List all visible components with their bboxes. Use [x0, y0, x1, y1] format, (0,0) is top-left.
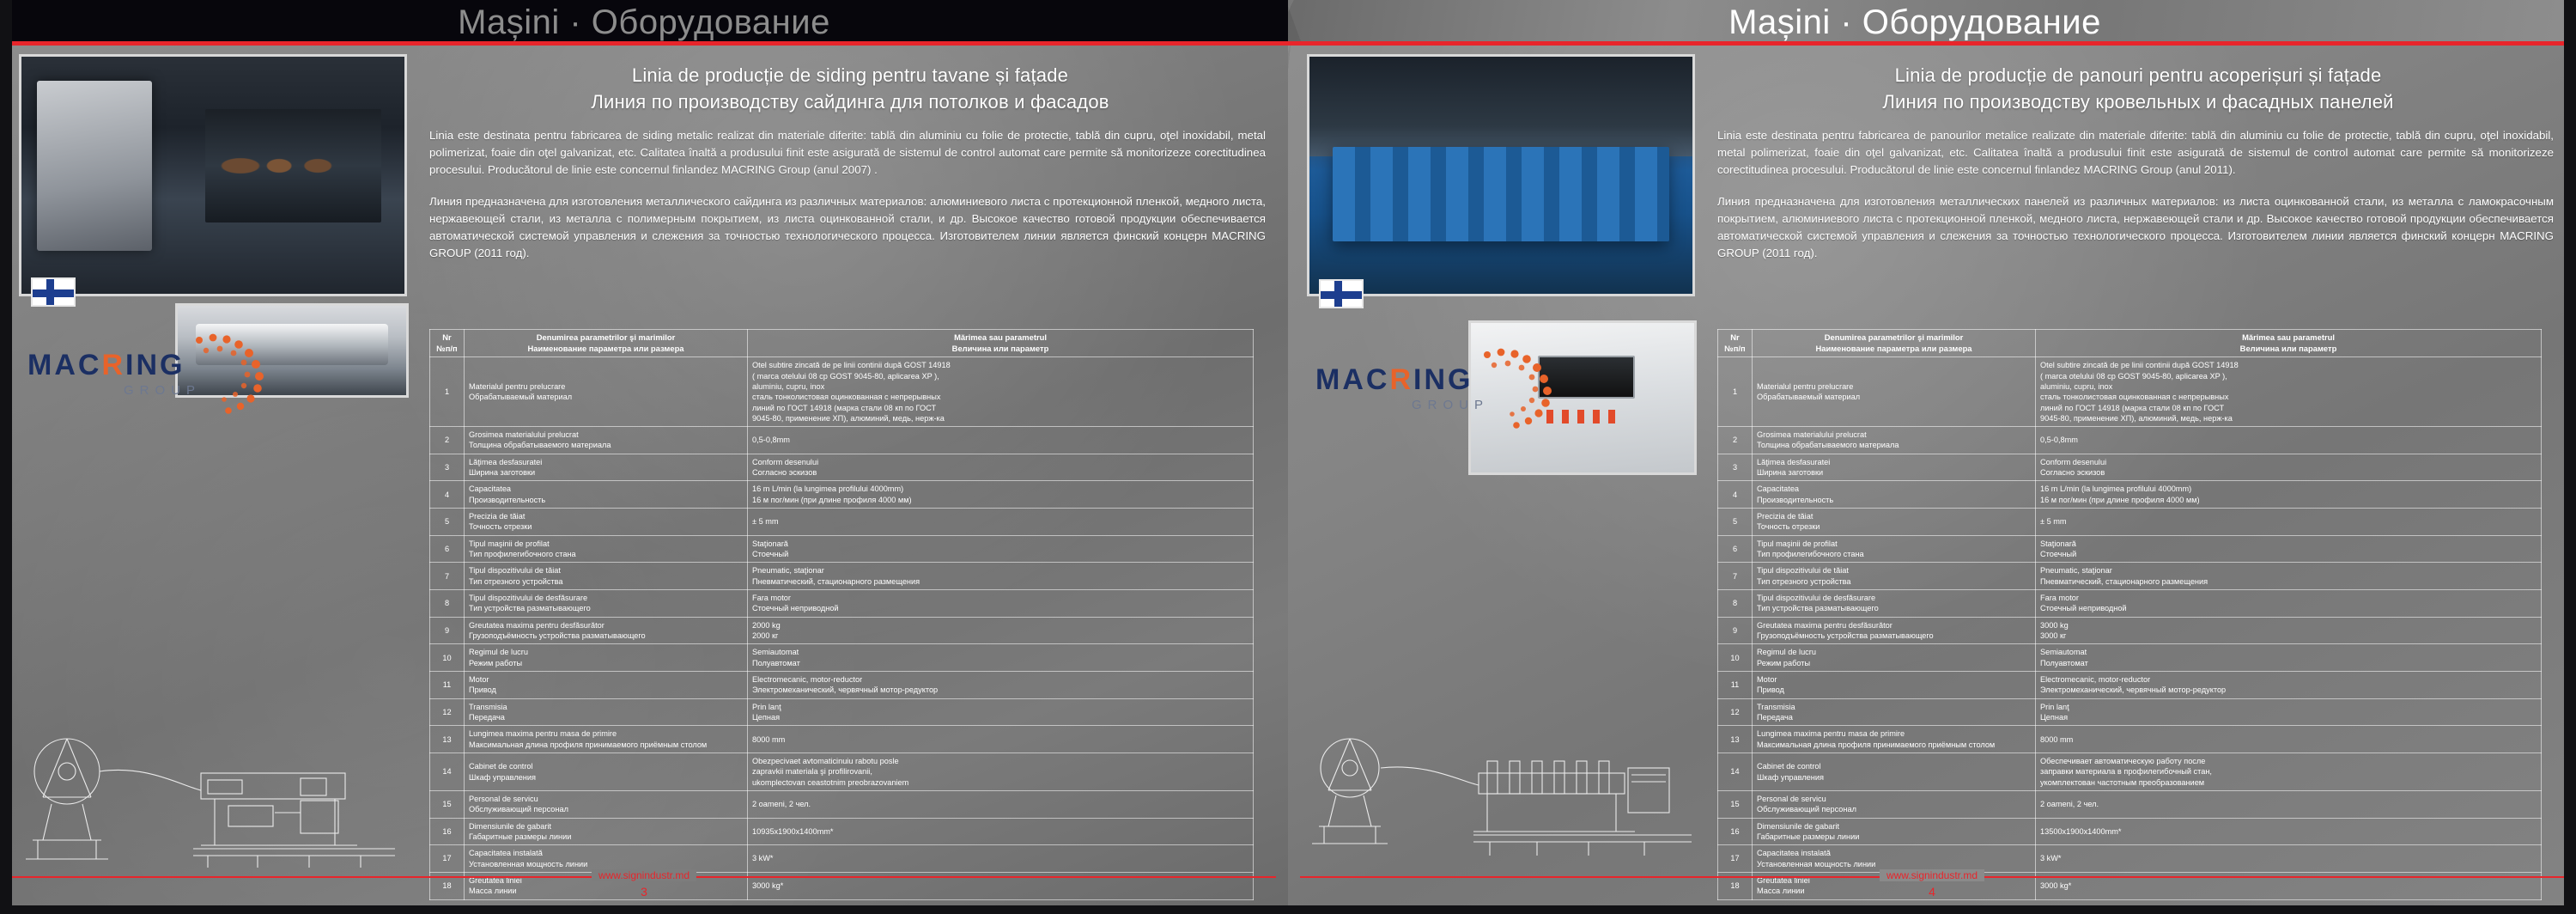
row-value: Fara motorСтоечный неприводной [748, 590, 1254, 618]
photo-machine-main-left [19, 54, 407, 296]
page-title-ru-left: Линия по производству сайдинга для потол… [424, 91, 1276, 113]
row-parameter: Lungimea maxima pentru masa de primireМа… [1753, 726, 2036, 753]
header-left: Mașini · Оборудование [0, 0, 1288, 41]
row-value: 0,5-0,8mm [748, 427, 1254, 454]
table-row: 16Dimensiunile de gabaritГабаритные разм… [1718, 818, 2542, 845]
row-number: 16 [1718, 818, 1753, 845]
table-row: 15Personal de servicuОбслуживающий персо… [1718, 791, 2542, 819]
footer-left: www.signindustr.md 3 [12, 876, 1276, 905]
technical-drawing-left [17, 711, 405, 874]
row-value: 2 oameni, 2 чел. [748, 791, 1254, 819]
table-row: 1Materialul pentru prelucrareОбрабатывае… [1718, 357, 2542, 427]
row-number: 9 [430, 617, 465, 644]
table-row: 13Lungimea maxima pentru masa de primire… [1718, 726, 2542, 753]
row-value: SemiautomatПолуавтомат [748, 644, 1254, 672]
row-number: 8 [430, 590, 465, 618]
row-parameter: Lăţimea desfasurateiШирина заготовки [465, 454, 748, 481]
row-parameter: Lăţimea desfasurateiШирина заготовки [1753, 454, 2036, 481]
row-parameter: Cabinet de controlШкаф управления [1753, 753, 2036, 791]
row-number: 5 [1718, 509, 1753, 536]
row-parameter: Grosimea materialului prelucratТолщина о… [465, 427, 748, 454]
text-column-right: Linia de producție de panouri pentru aco… [1712, 46, 2564, 905]
row-value: Conform desenuluiСогласно эскизов [2036, 454, 2542, 481]
table-row: 5Precizia de tăiatТочность отрезки± 5 mm [430, 509, 1254, 536]
content-left: MACRING GROUP [12, 46, 1276, 905]
page-left: Mașini · Оборудование [0, 0, 1288, 914]
table-row: 17Capacitatea instalatăУстановленная мощ… [1718, 845, 2542, 873]
frame-strip-bottom-left [0, 905, 1288, 914]
row-number: 13 [430, 726, 465, 753]
row-value: Prin lanţЦепная [748, 698, 1254, 726]
table-row: 8Tipul dispozitivului de desfăsurareТип … [430, 590, 1254, 618]
photo-column-right: MACRING GROUP [1300, 46, 1704, 905]
table-row: 1Materialul pentru prelucrareОбрабатывае… [430, 357, 1254, 427]
row-number: 14 [430, 753, 465, 791]
row-value: ± 5 mm [2036, 509, 2542, 536]
table-row: 5Precizia de tăiatТочность отрезки± 5 mm [1718, 509, 2542, 536]
footer-right: www.signindustr.md 4 [1300, 876, 2564, 905]
row-number: 3 [1718, 454, 1753, 481]
row-number: 12 [1718, 698, 1753, 726]
table-row: 4CapacitateaПроизводительность16 m L/min… [430, 481, 1254, 509]
row-parameter: Greutatea maxima pentru desfăsurătorГруз… [465, 617, 748, 644]
row-parameter: Regimul de lucruРежим работы [1753, 644, 2036, 672]
table-row: 9Greutatea maxima pentru desfăsurătorГру… [1718, 617, 2542, 644]
row-value: Pneumatic, staţionarПневматический, стац… [748, 563, 1254, 590]
row-value: Obezpecivaet avtomaticinuiu rabotu posle… [748, 753, 1254, 791]
row-parameter: Tipul dispozitivului de tăiatТип отрезно… [1753, 563, 2036, 590]
spec-table-right: Nr№п/пDenumirea parametrilor şi marimilo… [1717, 329, 2542, 900]
table-row: 17Capacitatea instalatăУстановленная мощ… [430, 845, 1254, 873]
row-parameter: Cabinet de controlШкаф управления [465, 753, 748, 791]
row-value: StaţionarăСтоечный [2036, 535, 2542, 563]
table-row: 8Tipul dispozitivului de desfăsurareТип … [1718, 590, 2542, 618]
table-header-row: Nr№п/пDenumirea parametrilor şi marimilo… [430, 330, 1254, 357]
page-title-ro-right: Linia de producție de panouri pentru aco… [1712, 46, 2564, 87]
row-number: 10 [1718, 644, 1753, 672]
row-value: SemiautomatПолуавтомат [2036, 644, 2542, 672]
technical-drawing-right [1305, 718, 1700, 864]
table-row: 4CapacitateaПроизводительность16 m L/min… [1718, 481, 2542, 509]
row-parameter: Personal de servicuОбслуживающий персона… [465, 791, 748, 819]
table-row: 6Tipul maşinii de profilatТип профилегиб… [430, 535, 1254, 563]
page-number-right: 4 [1929, 885, 1935, 899]
row-value: 16 m L/min (la lungimea profilului 4000m… [748, 481, 1254, 509]
table-row: 15Personal de servicuОбслуживающий персо… [430, 791, 1254, 819]
row-value: 3000 kg3000 кг [2036, 617, 2542, 644]
th-param: Denumirea parametrilor şi marimilorНаиме… [465, 330, 748, 357]
row-number: 12 [430, 698, 465, 726]
page-title-ru-right: Линия по производству кровельных и фасад… [1712, 91, 2564, 113]
table-row: 13Lungimea maxima pentru masa de primire… [430, 726, 1254, 753]
page-number-left: 3 [641, 885, 647, 899]
row-parameter: Grosimea materialului prelucratТолщина о… [1753, 427, 2036, 454]
row-number: 8 [1718, 590, 1753, 618]
table-row: 6Tipul maşinii de profilatТип профилегиб… [1718, 535, 2542, 563]
table-row: 14Cabinet de controlШкаф управленияОбесп… [1718, 753, 2542, 791]
row-value: ± 5 mm [748, 509, 1254, 536]
spec-table-wrapper-left: Nr№п/пDenumirea parametrilor şi marimilo… [429, 329, 1254, 900]
row-number: 7 [430, 563, 465, 590]
paragraph-ro-left: Linia este destinata pentru fabricarea d… [424, 127, 1276, 180]
frame-strip-bottom-right [1288, 905, 2576, 914]
table-row: 3Lăţimea desfasurateiШирина заготовкиCon… [430, 454, 1254, 481]
row-parameter: Materialul pentru prelucrareОбрабатываем… [465, 357, 748, 427]
row-value: 10935x1900x1400mm* [748, 818, 1254, 845]
row-number: 6 [430, 535, 465, 563]
row-value: 8000 mm [2036, 726, 2542, 753]
row-number: 16 [430, 818, 465, 845]
row-value: Обеспечивает автоматическую работу после… [2036, 753, 2542, 791]
row-value: Otel subtire zincată de pe linii contini… [748, 357, 1254, 427]
row-parameter: Lungimea maxima pentru masa de primireМа… [465, 726, 748, 753]
footer-url-left[interactable]: www.signindustr.md [592, 869, 696, 881]
header-rule-left [12, 41, 1288, 46]
table-row: 11MotorПриводElectromecanic, motor-reduc… [1718, 672, 2542, 699]
row-number: 6 [1718, 535, 1753, 563]
header-title-left: Mașini · Оборудование [0, 0, 1288, 41]
th-number: Nr№п/п [1718, 330, 1753, 357]
row-parameter: Greutatea maxima pentru desfăsurătorГруз… [1753, 617, 2036, 644]
row-number: 15 [430, 791, 465, 819]
row-parameter: MotorПривод [1753, 672, 2036, 699]
table-row: 10Regimul de lucruРежим работыSemiautoma… [1718, 644, 2542, 672]
row-number: 5 [430, 509, 465, 536]
row-number: 3 [430, 454, 465, 481]
table-header-row: Nr№п/пDenumirea parametrilor şi marimilo… [1718, 330, 2542, 357]
row-parameter: Regimul de lucruРежим работы [465, 644, 748, 672]
footer-url-right[interactable]: www.signindustr.md [1880, 869, 1984, 881]
row-parameter: Tipul maşinii de profilatТип профилегибо… [1753, 535, 2036, 563]
row-number: 14 [1718, 753, 1753, 791]
row-value: StaţionarăСтоечный [748, 535, 1254, 563]
row-number: 11 [430, 672, 465, 699]
row-value: Prin lanţЦепная [2036, 698, 2542, 726]
table-row: 2Grosimea materialului prelucratТолщина … [1718, 427, 2542, 454]
table-row: 12TransmisiaПередачаPrin lanţЦепная [430, 698, 1254, 726]
row-parameter: Materialul pentru prelucrareОбрабатываем… [1753, 357, 2036, 427]
header-right: Mașini · Оборудование [1288, 0, 2576, 41]
content-right: MACRING GROUP [1300, 46, 2564, 905]
frame-strip-right [2564, 0, 2576, 914]
row-number: 4 [430, 481, 465, 509]
finland-flag-icon-left [31, 277, 76, 307]
row-value: 2 oameni, 2 чел. [2036, 791, 2542, 819]
row-number: 10 [430, 644, 465, 672]
header-title-right: Mașini · Оборудование [1288, 0, 2576, 41]
row-value: 2000 kg2000 кг [748, 617, 1254, 644]
table-row: 2Grosimea materialului prelucratТолщина … [430, 427, 1254, 454]
row-value: 13500x1900x1400mm* [2036, 818, 2542, 845]
spec-table-wrapper-right: Nr№п/пDenumirea parametrilor şi marimilo… [1717, 329, 2542, 900]
page-title-ro-left: Linia de producție de siding pentru tava… [424, 46, 1276, 87]
spec-table-body-left: 1Materialul pentru prelucrareОбрабатывае… [430, 357, 1254, 899]
row-parameter: Tipul dispozitivului de tăiatТип отрезно… [465, 563, 748, 590]
paragraph-ru-right: Линия предназначена для изготовления мет… [1712, 193, 2564, 263]
th-value: Mărimea sau parametrulВеличина или парам… [748, 330, 1254, 357]
row-number: 13 [1718, 726, 1753, 753]
table-row: 14Cabinet de controlШкаф управленияObezp… [430, 753, 1254, 791]
table-row: 7Tipul dispozitivului de tăiatТип отрезн… [430, 563, 1254, 590]
row-parameter: MotorПривод [465, 672, 748, 699]
th-value: Mărimea sau parametrulВеличина или парам… [2036, 330, 2542, 357]
photo-machine-main-right [1307, 54, 1695, 296]
row-value: 3 kW* [2036, 845, 2542, 873]
row-parameter: Tipul maşinii de profilatТип профилегибо… [465, 535, 748, 563]
row-number: 15 [1718, 791, 1753, 819]
row-value: 0,5-0,8mm [2036, 427, 2542, 454]
table-row: 16Dimensiunile de gabaritГабаритные разм… [430, 818, 1254, 845]
table-row: 3Lăţimea desfasurateiШирина заготовкиCon… [1718, 454, 2542, 481]
row-number: 4 [1718, 481, 1753, 509]
paragraph-ro-right: Linia este destinata pentru fabricarea d… [1712, 127, 2564, 180]
row-parameter: TransmisiaПередача [465, 698, 748, 726]
row-value: Electromecanic, motor-reductorЭлектромех… [748, 672, 1254, 699]
row-parameter: Capacitatea instalatăУстановленная мощно… [465, 845, 748, 873]
row-number: 1 [430, 357, 465, 427]
row-number: 2 [430, 427, 465, 454]
logo-arc-icon-right [1475, 346, 1568, 429]
table-row: 7Tipul dispozitivului de tăiatТип отрезн… [1718, 563, 2542, 590]
row-parameter: Dimensiunile de gabaritГабаритные размер… [1753, 818, 2036, 845]
page-right: Mașini · Оборудование [1288, 0, 2576, 914]
row-value: 16 m L/min (la lungimea profilului 4000m… [2036, 481, 2542, 509]
photo-column-left: MACRING GROUP [12, 46, 416, 905]
row-number: 7 [1718, 563, 1753, 590]
row-value: Fara motorСтоечный неприводной [2036, 590, 2542, 618]
row-parameter: Dimensiunile de gabaritГабаритные размер… [465, 818, 748, 845]
row-value: Electromecanic, motor-reductorЭлектромех… [2036, 672, 2542, 699]
row-number: 1 [1718, 357, 1753, 427]
th-param: Denumirea parametrilor şi marimilorНаиме… [1753, 330, 2036, 357]
row-parameter: TransmisiaПередача [1753, 698, 2036, 726]
row-number: 2 [1718, 427, 1753, 454]
spec-table-body-right: 1Materialul pentru prelucrareОбрабатывае… [1718, 357, 2542, 899]
row-parameter: Tipul dispozitivului de desfăsurareТип у… [465, 590, 748, 618]
row-number: 17 [430, 845, 465, 873]
frame-strip-left [0, 0, 12, 914]
row-parameter: Personal de servicuОбслуживающий персона… [1753, 791, 2036, 819]
logo-arc-icon-left [187, 332, 280, 414]
table-row: 10Regimul de lucruРежим работыSemiautoma… [430, 644, 1254, 672]
row-value: Otel subtire zincată de pe linii contini… [2036, 357, 2542, 427]
row-parameter: Capacitatea instalatăУстановленная мощно… [1753, 845, 2036, 873]
row-parameter: Precizia de tăiatТочность отрезки [1753, 509, 2036, 536]
row-parameter: CapacitateaПроизводительность [1753, 481, 2036, 509]
row-value: 3 kW* [748, 845, 1254, 873]
row-value: Pneumatic, staţionarПневматический, стац… [2036, 563, 2542, 590]
row-number: 11 [1718, 672, 1753, 699]
row-value: 8000 mm [748, 726, 1254, 753]
row-parameter: Tipul dispozitivului de desfăsurareТип у… [1753, 590, 2036, 618]
row-number: 17 [1718, 845, 1753, 873]
th-number: Nr№п/п [430, 330, 465, 357]
paragraph-ru-left: Линия предназначена для изготовления мет… [424, 193, 1276, 263]
table-row: 11MotorПриводElectromecanic, motor-reduc… [430, 672, 1254, 699]
finland-flag-icon-right [1319, 279, 1364, 308]
text-column-left: Linia de producție de siding pentru tava… [424, 46, 1276, 905]
table-row: 9Greutatea maxima pentru desfăsurătorГру… [430, 617, 1254, 644]
table-row: 12TransmisiaПередачаPrin lanţЦепная [1718, 698, 2542, 726]
row-parameter: Precizia de tăiatТочность отрезки [465, 509, 748, 536]
spec-table-left: Nr№п/пDenumirea parametrilor şi marimilo… [429, 329, 1254, 900]
row-value: Conform desenuluiСогласно эскизов [748, 454, 1254, 481]
row-number: 9 [1718, 617, 1753, 644]
macring-logo-right: MACRING GROUP [1315, 365, 1573, 412]
macring-logo-left: MACRING GROUP [27, 350, 285, 398]
header-rule-right [1288, 41, 2576, 46]
row-parameter: CapacitateaПроизводительность [465, 481, 748, 509]
